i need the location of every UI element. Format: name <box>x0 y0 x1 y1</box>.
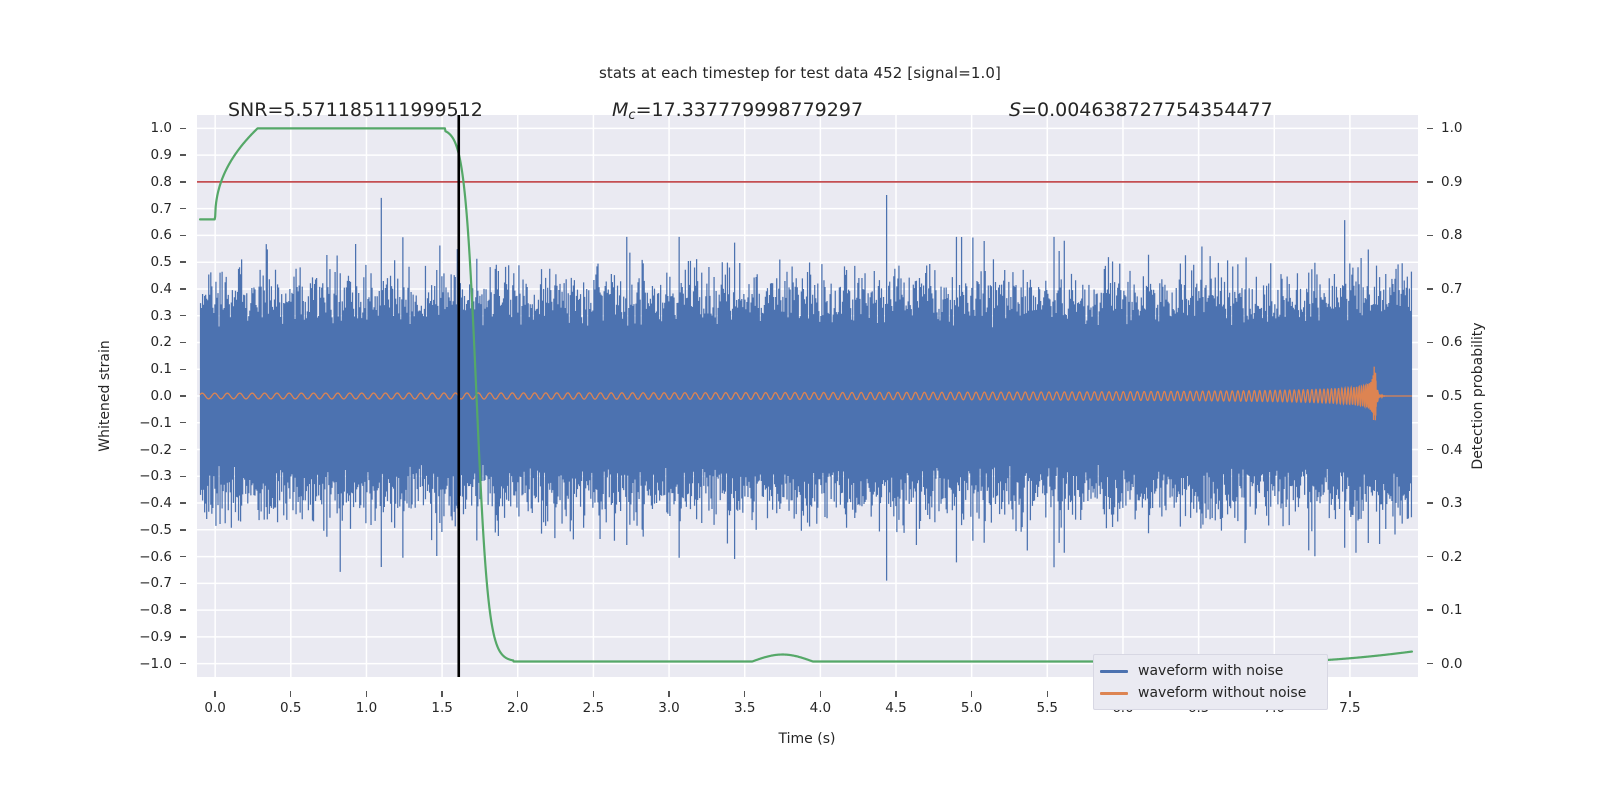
legend-swatch-with-noise <box>1100 670 1128 673</box>
x-tick-mark <box>441 691 442 697</box>
y-tick-mark-left <box>180 609 186 610</box>
y-axis-ticks-left: 1.00.90.80.70.60.50.40.30.20.10.0−0.1−0.… <box>118 115 186 677</box>
y-tick-label-left: 0.2 <box>151 334 172 350</box>
x-tick-label: 4.5 <box>885 700 906 716</box>
x-tick-label: 0.0 <box>204 700 225 716</box>
legend: waveform with noise waveform without noi… <box>1093 654 1328 710</box>
x-tick-mark <box>1047 691 1048 697</box>
legend-label-without-noise: waveform without noise <box>1138 685 1306 701</box>
x-tick-mark <box>744 691 745 697</box>
y-tick-label-right: 0.3 <box>1441 495 1462 511</box>
legend-item: waveform without noise <box>1100 682 1319 704</box>
y-tick-mark-left <box>180 342 186 343</box>
x-tick-label: 4.0 <box>810 700 831 716</box>
y-tick-label-right: 0.5 <box>1441 388 1462 404</box>
y-tick-mark-left <box>180 663 186 664</box>
y-tick-mark-right <box>1427 449 1433 450</box>
y-tick-label-left: 0.8 <box>151 174 172 190</box>
annotation-chirp-mass-value: 17.337779998779297 <box>651 99 863 121</box>
annotation-chirp-mass: Mc=17.337779998779297 <box>612 99 863 123</box>
y-tick-mark-left <box>180 583 186 584</box>
y-tick-mark-right <box>1427 663 1433 664</box>
x-tick-label: 5.0 <box>961 700 982 716</box>
y-tick-mark-right <box>1427 181 1433 182</box>
annotation-snr: SNR=5.571185111999512 <box>228 99 483 121</box>
annotation-statistic-value: 0.004638727754354477 <box>1037 99 1273 121</box>
y-tick-mark-left <box>180 449 186 450</box>
series-waveform-with-noise <box>201 195 1412 581</box>
y-tick-label-left: −0.2 <box>139 442 172 458</box>
page-title: stats at each timestep for test data 452… <box>0 64 1600 82</box>
y-tick-label-left: 0.0 <box>151 388 172 404</box>
y-tick-label-right: 0.0 <box>1441 656 1462 672</box>
y-tick-mark-right <box>1427 502 1433 503</box>
x-tick-label: 1.0 <box>356 700 377 716</box>
y-tick-label-left: 0.3 <box>151 308 172 324</box>
y-tick-label-right: 0.6 <box>1441 334 1462 350</box>
y-tick-label-left: 0.1 <box>151 361 172 377</box>
x-tick-mark <box>517 691 518 697</box>
y-tick-label-left: −0.9 <box>139 629 172 645</box>
y-tick-label-right: 0.2 <box>1441 549 1462 565</box>
x-tick-mark <box>820 691 821 697</box>
y-tick-label-left: 0.4 <box>151 281 172 297</box>
figure-canvas: stats at each timestep for test data 452… <box>0 0 1600 800</box>
x-tick-label: 3.0 <box>658 700 679 716</box>
x-tick-mark <box>895 691 896 697</box>
x-tick-mark <box>1349 691 1350 697</box>
y-tick-mark-left <box>180 208 186 209</box>
noise-trace <box>201 195 1412 581</box>
plot-area <box>197 115 1418 677</box>
x-tick-label: 0.5 <box>280 700 301 716</box>
y-tick-mark-right <box>1427 128 1433 129</box>
annotation-statistic-separator: = <box>1021 99 1037 121</box>
y-tick-label-left: −0.8 <box>139 602 172 618</box>
y-tick-mark-left <box>180 154 186 155</box>
x-tick-label: 5.5 <box>1037 700 1058 716</box>
y-tick-mark-left <box>180 476 186 477</box>
annotation-statistic: S=0.004638727754354477 <box>1009 99 1273 121</box>
x-tick-label: 1.5 <box>431 700 452 716</box>
y-tick-label-left: −0.5 <box>139 522 172 538</box>
x-tick-mark <box>593 691 594 697</box>
x-tick-label: 2.5 <box>583 700 604 716</box>
y-tick-label-left: −0.3 <box>139 468 172 484</box>
y-tick-mark-left <box>180 422 186 423</box>
y-tick-label-left: −0.7 <box>139 575 172 591</box>
y-tick-label-left: −0.1 <box>139 415 172 431</box>
y-tick-mark-right <box>1427 395 1433 396</box>
x-tick-mark <box>214 691 215 697</box>
y-tick-label-left: 0.5 <box>151 254 172 270</box>
y-tick-mark-left <box>180 529 186 530</box>
y-tick-label-left: 0.6 <box>151 227 172 243</box>
x-tick-label: 2.0 <box>507 700 528 716</box>
y-tick-mark-left <box>180 502 186 503</box>
plot-canvas <box>197 115 1418 677</box>
x-tick-label: 7.5 <box>1339 700 1360 716</box>
x-axis-label: Time (s) <box>779 731 836 747</box>
y-tick-mark-left <box>180 181 186 182</box>
y-tick-label-right: 1.0 <box>1441 120 1462 136</box>
y-tick-label-left: −0.4 <box>139 495 172 511</box>
x-tick-mark <box>971 691 972 697</box>
x-tick-mark <box>668 691 669 697</box>
y-tick-label-right: 0.9 <box>1441 174 1462 190</box>
y-tick-mark-left <box>180 235 186 236</box>
legend-label-with-noise: waveform with noise <box>1138 663 1283 679</box>
y-tick-label-left: 0.7 <box>151 201 172 217</box>
x-tick-mark <box>366 691 367 697</box>
annotation-chirp-mass-subscript: c <box>628 108 635 123</box>
y-tick-label-left: −1.0 <box>139 656 172 672</box>
annotation-chirp-mass-symbol: M <box>612 99 628 121</box>
y-tick-label-right: 0.8 <box>1441 227 1462 243</box>
y-tick-mark-right <box>1427 342 1433 343</box>
y-tick-mark-right <box>1427 235 1433 236</box>
annotation-snr-value: 5.571185111999512 <box>283 99 482 121</box>
y-tick-mark-right <box>1427 556 1433 557</box>
y-tick-mark-left <box>180 369 186 370</box>
y-tick-mark-right <box>1427 288 1433 289</box>
annotation-snr-prefix: SNR= <box>228 99 283 121</box>
x-tick-mark <box>290 691 291 697</box>
y-tick-mark-right <box>1427 609 1433 610</box>
y-tick-label-right: 0.1 <box>1441 602 1462 618</box>
y-tick-mark-left <box>180 556 186 557</box>
x-tick-label: 3.5 <box>734 700 755 716</box>
y-tick-mark-left <box>180 128 186 129</box>
y-axis-label-left: Whitened strain <box>97 340 113 451</box>
annotation-chirp-mass-separator: = <box>636 99 652 121</box>
y-tick-label-right: 0.7 <box>1441 281 1462 297</box>
y-tick-mark-left <box>180 395 186 396</box>
annotation-statistic-symbol: S <box>1009 99 1021 121</box>
y-axis-ticks-right: 1.00.90.80.70.60.50.40.30.20.10.0 <box>1427 115 1487 677</box>
legend-item: waveform with noise <box>1100 660 1319 682</box>
y-tick-mark-left <box>180 315 186 316</box>
y-tick-mark-left <box>180 636 186 637</box>
y-tick-label-left: −0.6 <box>139 549 172 565</box>
y-tick-mark-left <box>180 261 186 262</box>
y-tick-label-right: 0.4 <box>1441 442 1462 458</box>
legend-swatch-without-noise <box>1100 692 1128 695</box>
y-tick-label-left: 1.0 <box>151 120 172 136</box>
y-tick-label-left: 0.9 <box>151 147 172 163</box>
y-tick-mark-left <box>180 288 186 289</box>
